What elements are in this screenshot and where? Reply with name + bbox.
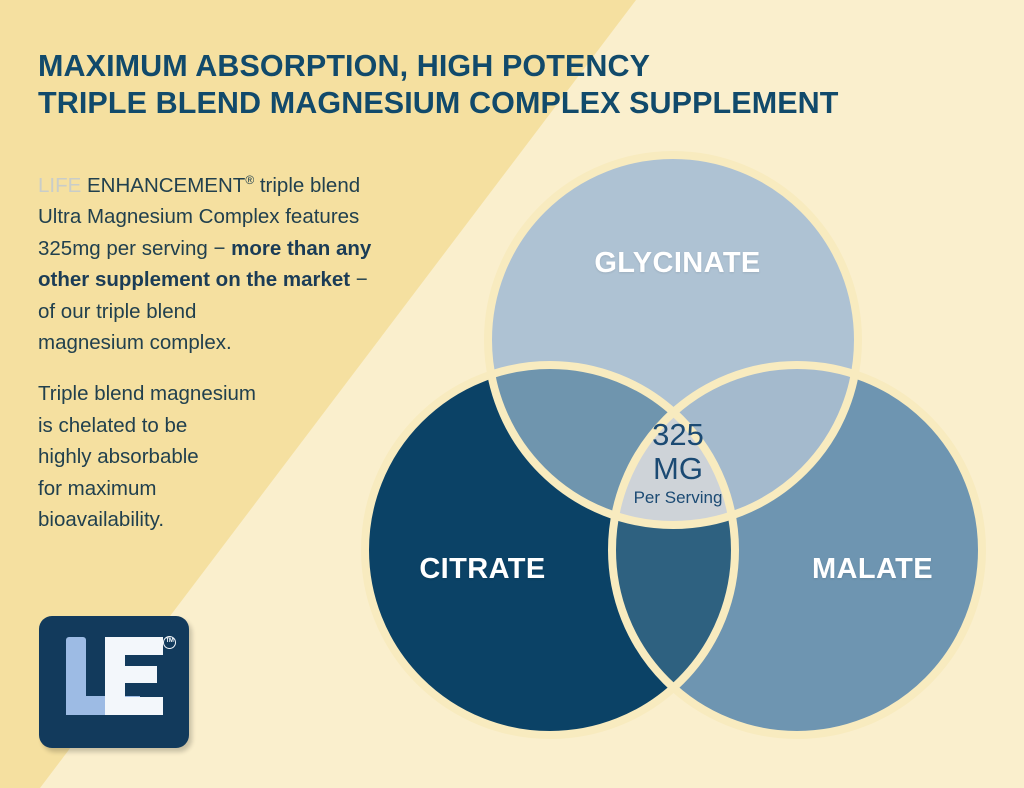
brand-enhancement-word: ENHANCEMENT [81, 174, 245, 197]
venn-label-glycinate: GLYCINATE [545, 247, 810, 280]
registered-mark: ® [245, 173, 254, 187]
trademark-text: TM [166, 638, 174, 644]
venn-label-malate: MALATE [760, 553, 985, 586]
page-title-line-2: TRIPLE BLEND MAGNESIUM COMPLEX SUPPLEMEN… [38, 85, 978, 122]
logo-letter-e-middle-bar [105, 666, 157, 683]
brand-life-word: LIFE [38, 174, 81, 197]
venn-label-citrate: CITRATE [370, 553, 595, 586]
page-title-line-1: MAXIMUM ABSORPTION, HIGH POTENCY [38, 48, 978, 85]
logo-letter-e-top-bar [105, 637, 163, 655]
infographic-canvas: MAXIMUM ABSORPTION, HIGH POTENCY TRIPLE … [0, 0, 1024, 788]
trademark-icon: TM [163, 636, 176, 649]
dosage-value: 325 [608, 418, 748, 452]
intro-bold-b: other supplement on the market [38, 268, 350, 291]
logo-letter-e-bottom-bar [105, 697, 163, 715]
dosage-caption: Per Serving [608, 487, 748, 509]
page-title: MAXIMUM ABSORPTION, HIGH POTENCY TRIPLE … [38, 48, 978, 122]
venn-center-callout: 325 MG Per Serving [608, 418, 748, 509]
dosage-unit: MG [608, 452, 748, 486]
le-logo: TM [39, 616, 189, 748]
